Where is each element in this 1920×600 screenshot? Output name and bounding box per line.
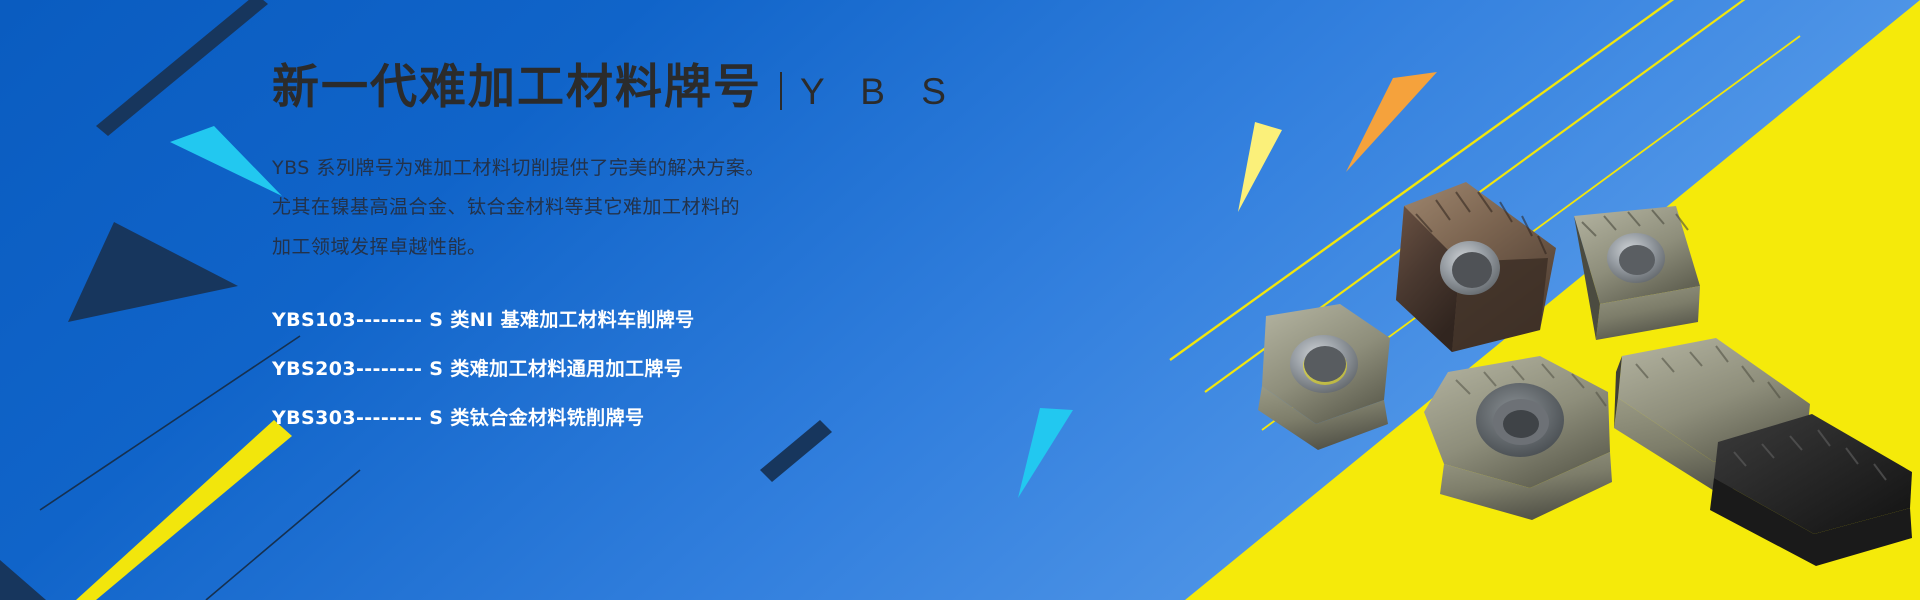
description-line: 尤其在镍基高温合金、钛合金材料等其它难加工材料的 [272,195,1032,221]
grade-list: YBS103-------- S 类NI 基难加工材料车削牌号 YBS203--… [272,305,1032,430]
description-line: 加工领域发挥卓越性能。 [272,235,1032,261]
brand-name: Y B S [800,72,959,113]
description-block: YBS 系列牌号为难加工材料切削提供了完美的解决方案。 尤其在镍基高温合金、钛合… [272,156,1032,261]
grade-item: YBS103-------- S 类NI 基难加工材料车削牌号 [272,305,1032,332]
title-separator-bar [780,72,782,110]
banner-copy: 新一代难加工材料牌号 Y B S YBS 系列牌号为难加工材料切削提供了完美的解… [272,62,1032,452]
grade-item: YBS303-------- S 类钛合金材料铣削牌号 [272,403,1032,430]
banner-title: 新一代难加工材料牌号 Y B S [272,62,1032,114]
page-title: 新一代难加工材料牌号 [272,62,762,114]
square-insert [1574,206,1700,340]
ybs-product-banner: 新一代难加工材料牌号 Y B S YBS 系列牌号为难加工材料切削提供了完美的解… [0,0,1920,600]
description-line: YBS 系列牌号为难加工材料切削提供了完美的解决方案。 [272,156,1032,182]
grade-item: YBS203-------- S 类难加工材料通用加工牌号 [272,354,1032,381]
